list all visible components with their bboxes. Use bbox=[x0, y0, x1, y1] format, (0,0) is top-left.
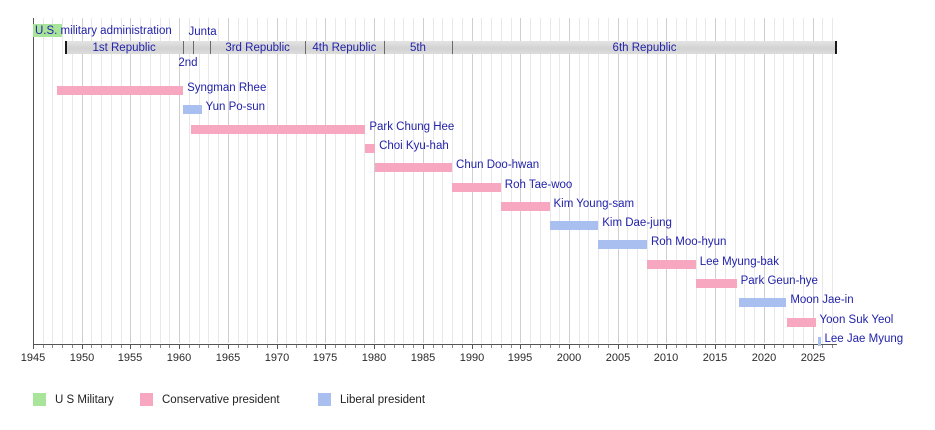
president-bar-syngman-rhee bbox=[57, 86, 183, 95]
gridline bbox=[316, 18, 317, 343]
legend-item-conservative-president: Conservative president bbox=[140, 393, 280, 406]
x-axis-tick-label: 1995 bbox=[508, 352, 532, 364]
gridline bbox=[218, 18, 219, 343]
x-axis-minor-tick bbox=[267, 345, 268, 348]
x-axis-minor-tick bbox=[433, 345, 434, 348]
x-axis-tick-label: 1990 bbox=[460, 352, 484, 364]
legend-swatch bbox=[33, 393, 46, 406]
president-label-park-chung-hee: Park Chung Hee bbox=[369, 121, 454, 133]
gridline bbox=[442, 18, 443, 343]
x-axis-minor-tick bbox=[637, 345, 638, 348]
gridline bbox=[228, 18, 229, 343]
president-label-yoon-suk-yeol: Yoon Suk Yeol bbox=[820, 314, 894, 326]
x-axis-minor-tick bbox=[101, 345, 102, 348]
x-axis-tick-label: 1985 bbox=[411, 352, 435, 364]
x-axis-minor-tick bbox=[296, 345, 297, 348]
x-axis-minor-tick bbox=[783, 345, 784, 348]
x-axis-minor-tick bbox=[345, 345, 346, 348]
president-label-moon-jae-in: Moon Jae-in bbox=[790, 294, 853, 306]
x-axis-tick-label: 1980 bbox=[362, 352, 386, 364]
gridline bbox=[783, 18, 784, 343]
gridline bbox=[277, 18, 278, 343]
president-bar-roh-tae-woo bbox=[452, 183, 501, 192]
president-label-lee-jae-myung: Lee Jae Myung bbox=[825, 333, 904, 345]
gridline bbox=[774, 18, 775, 343]
x-axis-tick bbox=[179, 345, 180, 349]
x-axis-minor-tick bbox=[686, 345, 687, 348]
president-bar-park-chung-hee bbox=[191, 125, 365, 134]
x-axis-minor-tick bbox=[774, 345, 775, 348]
president-bar-yun-po-sun bbox=[183, 105, 202, 114]
gridline bbox=[111, 18, 112, 343]
gridline bbox=[735, 18, 736, 343]
legend-label: Conservative president bbox=[162, 394, 280, 406]
era-divider bbox=[384, 41, 385, 54]
x-axis-minor-tick bbox=[150, 345, 151, 348]
presidents-of-south-korea-timeline-chart: 1945195019551960196519701975198019851990… bbox=[0, 0, 935, 430]
x-axis-tick-label: 1975 bbox=[313, 352, 337, 364]
era-label-1st-republic: 1st Republic bbox=[92, 42, 155, 54]
gridline bbox=[637, 18, 638, 343]
president-label-roh-moo-hyun: Roh Moo-hyun bbox=[651, 236, 726, 248]
x-axis-tick-label: 1945 bbox=[21, 352, 45, 364]
gridline bbox=[627, 18, 628, 343]
gridline bbox=[101, 18, 102, 343]
gridline bbox=[647, 18, 648, 343]
x-axis-minor-tick bbox=[413, 345, 414, 348]
x-axis-tick bbox=[82, 345, 83, 349]
x-axis-minor-tick bbox=[72, 345, 73, 348]
x-axis-tick-label: 1970 bbox=[265, 352, 289, 364]
x-axis-tick bbox=[325, 345, 326, 349]
x-axis-line bbox=[33, 344, 837, 345]
x-axis-tick-label: 2005 bbox=[606, 352, 630, 364]
gridline bbox=[657, 18, 658, 343]
x-axis-minor-tick bbox=[676, 345, 677, 348]
gridline bbox=[705, 18, 706, 343]
gridline bbox=[686, 18, 687, 343]
gridline bbox=[267, 18, 268, 343]
x-axis-minor-tick bbox=[218, 345, 219, 348]
gridline bbox=[696, 18, 697, 343]
x-axis-minor-tick bbox=[530, 345, 531, 348]
x-axis-minor-tick bbox=[540, 345, 541, 348]
x-axis-tick bbox=[228, 345, 229, 349]
x-axis-tick-label: 2010 bbox=[654, 352, 678, 364]
gridline bbox=[666, 18, 667, 343]
gridline bbox=[384, 18, 385, 343]
gridline bbox=[335, 18, 336, 343]
x-axis-minor-tick bbox=[121, 345, 122, 348]
x-axis-minor-tick bbox=[316, 345, 317, 348]
president-label-kim-young-sam: Kim Young-sam bbox=[554, 198, 635, 210]
legend-swatch bbox=[140, 393, 153, 406]
gridline bbox=[150, 18, 151, 343]
x-axis-minor-tick bbox=[598, 345, 599, 348]
president-label-lee-myung-bak: Lee Myung-bak bbox=[700, 256, 779, 268]
x-axis-minor-tick bbox=[208, 345, 209, 348]
republics-band-endcap bbox=[835, 41, 837, 54]
gridline bbox=[413, 18, 414, 343]
x-axis-minor-tick bbox=[822, 345, 823, 348]
president-bar-roh-moo-hyun bbox=[598, 240, 647, 249]
x-axis-minor-tick bbox=[189, 345, 190, 348]
x-axis-minor-tick bbox=[754, 345, 755, 348]
x-axis-tick-label: 1965 bbox=[216, 352, 240, 364]
x-axis-minor-tick bbox=[384, 345, 385, 348]
gridline bbox=[462, 18, 463, 343]
x-axis-minor-tick bbox=[442, 345, 443, 348]
x-axis-tick bbox=[33, 345, 34, 349]
president-bar-chun-doo-hwan bbox=[375, 163, 452, 172]
x-axis-tick bbox=[764, 345, 765, 349]
x-axis-minor-tick bbox=[491, 345, 492, 348]
era-label-2nd: 2nd bbox=[178, 57, 197, 69]
gridline bbox=[306, 18, 307, 343]
x-axis-tick-label: 2020 bbox=[752, 352, 776, 364]
gridline bbox=[286, 18, 287, 343]
legend-label: U S Military bbox=[55, 394, 114, 406]
x-axis-tick bbox=[423, 345, 424, 349]
legend-item-u-s-military: U S Military bbox=[33, 393, 114, 406]
gridline bbox=[121, 18, 122, 343]
x-axis-tick-label: 1950 bbox=[70, 352, 94, 364]
x-axis-tick bbox=[618, 345, 619, 349]
president-bar-moon-jae-in bbox=[739, 298, 787, 307]
gridline bbox=[433, 18, 434, 343]
era-label-junta: Junta bbox=[189, 26, 217, 38]
gridline bbox=[72, 18, 73, 343]
gridline bbox=[238, 18, 239, 343]
president-bar-kim-dae-jung bbox=[550, 221, 599, 230]
gridline bbox=[257, 18, 258, 343]
x-axis-tick bbox=[130, 345, 131, 349]
era-label-3rd-republic: 3rd Republic bbox=[225, 42, 290, 54]
era-divider bbox=[183, 41, 184, 54]
x-axis-minor-tick bbox=[335, 345, 336, 348]
x-axis-minor-tick bbox=[793, 345, 794, 348]
president-label-kim-dae-jung: Kim Dae-jung bbox=[602, 217, 672, 229]
x-axis-minor-tick bbox=[501, 345, 502, 348]
gridline bbox=[501, 18, 502, 343]
x-axis-tick bbox=[715, 345, 716, 349]
gridline bbox=[345, 18, 346, 343]
x-axis-minor-tick bbox=[403, 345, 404, 348]
x-axis-minor-tick bbox=[744, 345, 745, 348]
gridline bbox=[452, 18, 453, 343]
x-axis-minor-tick bbox=[588, 345, 589, 348]
era-divider bbox=[210, 41, 211, 54]
era-divider bbox=[193, 41, 194, 54]
x-axis-minor-tick bbox=[394, 345, 395, 348]
x-axis-tick-label: 2025 bbox=[801, 352, 825, 364]
president-label-roh-tae-woo: Roh Tae-woo bbox=[505, 179, 573, 191]
x-axis-minor-tick bbox=[199, 345, 200, 348]
x-axis-minor-tick bbox=[481, 345, 482, 348]
president-label-park-geun-hye: Park Geun-hye bbox=[741, 275, 818, 287]
x-axis-minor-tick bbox=[306, 345, 307, 348]
us-military-administration-label: U.S. military administration bbox=[35, 25, 172, 37]
x-axis-tick bbox=[520, 345, 521, 349]
gridline bbox=[374, 18, 375, 343]
x-axis-minor-tick bbox=[462, 345, 463, 348]
x-axis-tick bbox=[666, 345, 667, 349]
republics-band-endcap bbox=[65, 41, 67, 54]
x-axis-minor-tick bbox=[160, 345, 161, 348]
era-divider bbox=[305, 41, 306, 54]
legend-item-liberal-president: Liberal president bbox=[318, 393, 425, 406]
gridline bbox=[91, 18, 92, 343]
x-axis-minor-tick bbox=[725, 345, 726, 348]
gridline bbox=[52, 18, 53, 343]
x-axis-tick bbox=[472, 345, 473, 349]
president-bar-kim-young-sam bbox=[501, 202, 550, 211]
y-axis-line bbox=[33, 18, 34, 344]
x-axis-minor-tick bbox=[238, 345, 239, 348]
x-axis-tick-label: 2000 bbox=[557, 352, 581, 364]
gridline bbox=[130, 18, 131, 343]
gridline bbox=[403, 18, 404, 343]
x-axis-minor-tick bbox=[550, 345, 551, 348]
x-axis-tick-label: 2015 bbox=[703, 352, 727, 364]
x-axis-minor-tick bbox=[559, 345, 560, 348]
gridline bbox=[481, 18, 482, 343]
legend-label: Liberal president bbox=[340, 394, 425, 406]
gridline bbox=[754, 18, 755, 343]
x-axis-minor-tick bbox=[91, 345, 92, 348]
legend-swatch bbox=[318, 393, 331, 406]
x-axis-minor-tick bbox=[452, 345, 453, 348]
x-axis-minor-tick bbox=[705, 345, 706, 348]
gridline bbox=[764, 18, 765, 343]
gridline bbox=[160, 18, 161, 343]
x-axis-minor-tick bbox=[657, 345, 658, 348]
gridline bbox=[355, 18, 356, 343]
x-axis-minor-tick bbox=[140, 345, 141, 348]
gridline bbox=[208, 18, 209, 343]
gridline bbox=[608, 18, 609, 343]
gridline bbox=[491, 18, 492, 343]
x-axis-minor-tick bbox=[579, 345, 580, 348]
x-axis-minor-tick bbox=[286, 345, 287, 348]
x-axis-minor-tick bbox=[803, 345, 804, 348]
era-label-6th-republic: 6th Republic bbox=[613, 42, 677, 54]
x-axis-tick bbox=[813, 345, 814, 349]
gridline bbox=[140, 18, 141, 343]
x-axis-minor-tick bbox=[52, 345, 53, 348]
era-label-5th: 5th bbox=[410, 42, 426, 54]
gridline bbox=[169, 18, 170, 343]
president-bar-yoon-suk-yeol bbox=[787, 318, 815, 327]
gridline bbox=[394, 18, 395, 343]
gridline bbox=[618, 18, 619, 343]
gridline bbox=[423, 18, 424, 343]
gridline bbox=[247, 18, 248, 343]
x-axis-minor-tick bbox=[735, 345, 736, 348]
president-label-chun-doo-hwan: Chun Doo-hwan bbox=[456, 159, 539, 171]
president-label-yun-po-sun: Yun Po-sun bbox=[206, 101, 265, 113]
gridline bbox=[296, 18, 297, 343]
president-bar-park-geun-hye bbox=[696, 279, 737, 288]
x-axis-minor-tick bbox=[355, 345, 356, 348]
president-bar-lee-jae-myung bbox=[818, 337, 821, 346]
x-axis-minor-tick bbox=[696, 345, 697, 348]
gridline bbox=[472, 18, 473, 343]
x-axis-tick bbox=[374, 345, 375, 349]
gridline bbox=[62, 18, 63, 343]
era-divider bbox=[452, 41, 453, 54]
x-axis-minor-tick bbox=[511, 345, 512, 348]
gridline bbox=[588, 18, 589, 343]
gridline bbox=[364, 18, 365, 343]
gridline bbox=[715, 18, 716, 343]
x-axis-tick-label: 1955 bbox=[118, 352, 142, 364]
gridline bbox=[199, 18, 200, 343]
gridline bbox=[82, 18, 83, 343]
president-bar-lee-myung-bak bbox=[647, 260, 696, 269]
x-axis-minor-tick bbox=[627, 345, 628, 348]
x-axis-tick bbox=[569, 345, 570, 349]
gridline bbox=[725, 18, 726, 343]
x-axis-minor-tick bbox=[169, 345, 170, 348]
gridline bbox=[579, 18, 580, 343]
x-axis-tick bbox=[277, 345, 278, 349]
gridline bbox=[744, 18, 745, 343]
president-bar-choi-kyu-hah bbox=[365, 144, 375, 153]
x-axis-minor-tick bbox=[62, 345, 63, 348]
x-axis-minor-tick bbox=[832, 345, 833, 348]
gridline bbox=[43, 18, 44, 343]
president-label-choi-kyu-hah: Choi Kyu-hah bbox=[379, 140, 449, 152]
x-axis-minor-tick bbox=[111, 345, 112, 348]
x-axis-minor-tick bbox=[364, 345, 365, 348]
president-label-syngman-rhee: Syngman Rhee bbox=[187, 82, 266, 94]
gridline bbox=[676, 18, 677, 343]
x-axis-minor-tick bbox=[43, 345, 44, 348]
x-axis-minor-tick bbox=[608, 345, 609, 348]
x-axis-minor-tick bbox=[647, 345, 648, 348]
gridline bbox=[325, 18, 326, 343]
x-axis-minor-tick bbox=[257, 345, 258, 348]
era-label-4th-republic: 4th Republic bbox=[312, 42, 376, 54]
x-axis-tick-label: 1960 bbox=[167, 352, 191, 364]
gridline bbox=[598, 18, 599, 343]
x-axis-minor-tick bbox=[247, 345, 248, 348]
